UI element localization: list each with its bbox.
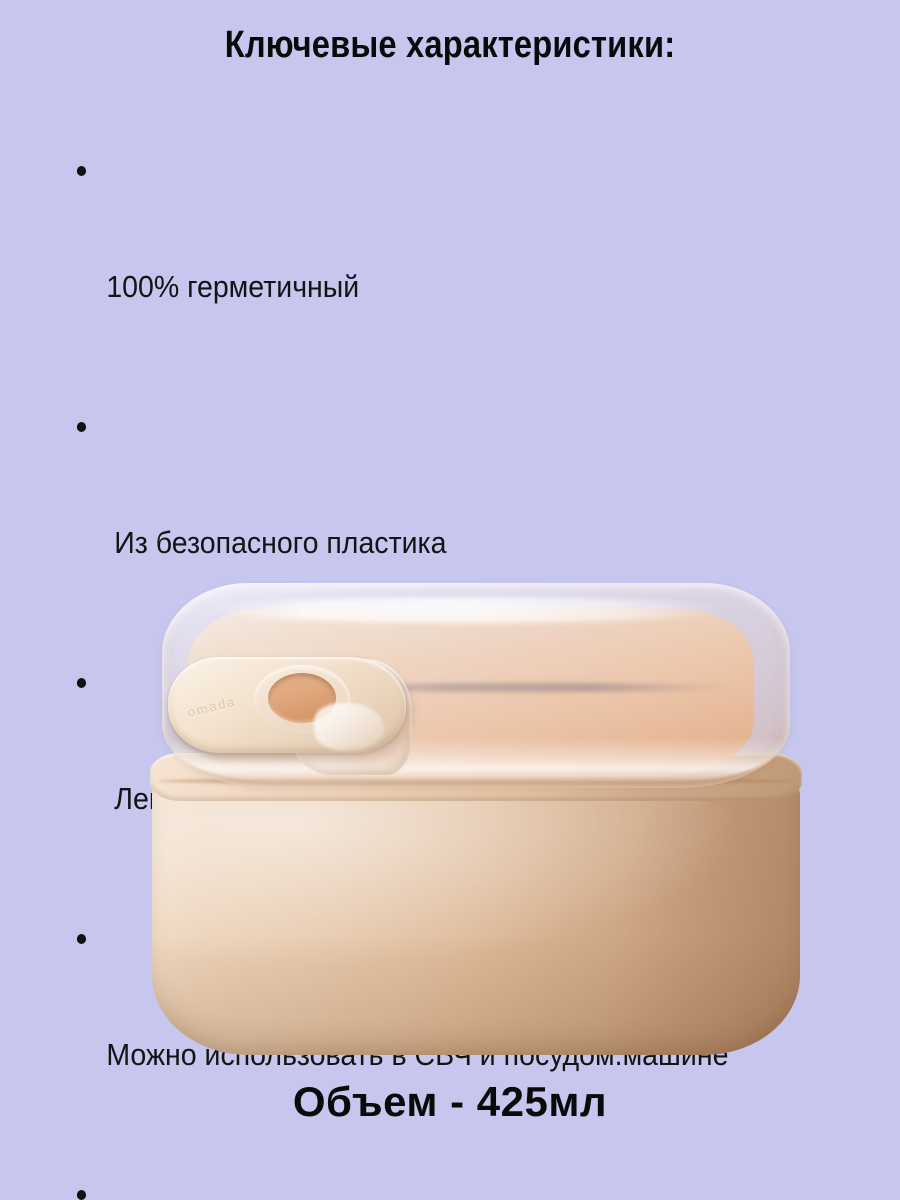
bullet-icon bbox=[77, 934, 86, 944]
page-title: Ключевые характеристики: bbox=[63, 24, 837, 67]
product-image: omada bbox=[140, 575, 800, 1065]
list-item: Подходит для хранения продуктов , перено… bbox=[64, 1174, 837, 1200]
bullet-icon bbox=[77, 1190, 86, 1200]
vent-clear-highlight bbox=[314, 703, 384, 751]
bullet-icon bbox=[77, 422, 86, 432]
bullet-icon bbox=[77, 166, 86, 176]
lid-gloss-highlight bbox=[210, 597, 730, 623]
list-item: 100% герметичный bbox=[64, 150, 837, 384]
product-infographic-page: Ключевые характеристики: 100% герметичны… bbox=[0, 0, 900, 1200]
feature-text: 100% герметичный bbox=[106, 267, 836, 306]
container-body bbox=[152, 773, 800, 1055]
feature-text: Из безопасного пластика bbox=[106, 523, 836, 562]
vent-plug: omada bbox=[168, 657, 418, 761]
volume-caption: Объем - 425мл bbox=[0, 1078, 900, 1126]
bullet-icon bbox=[77, 678, 86, 688]
